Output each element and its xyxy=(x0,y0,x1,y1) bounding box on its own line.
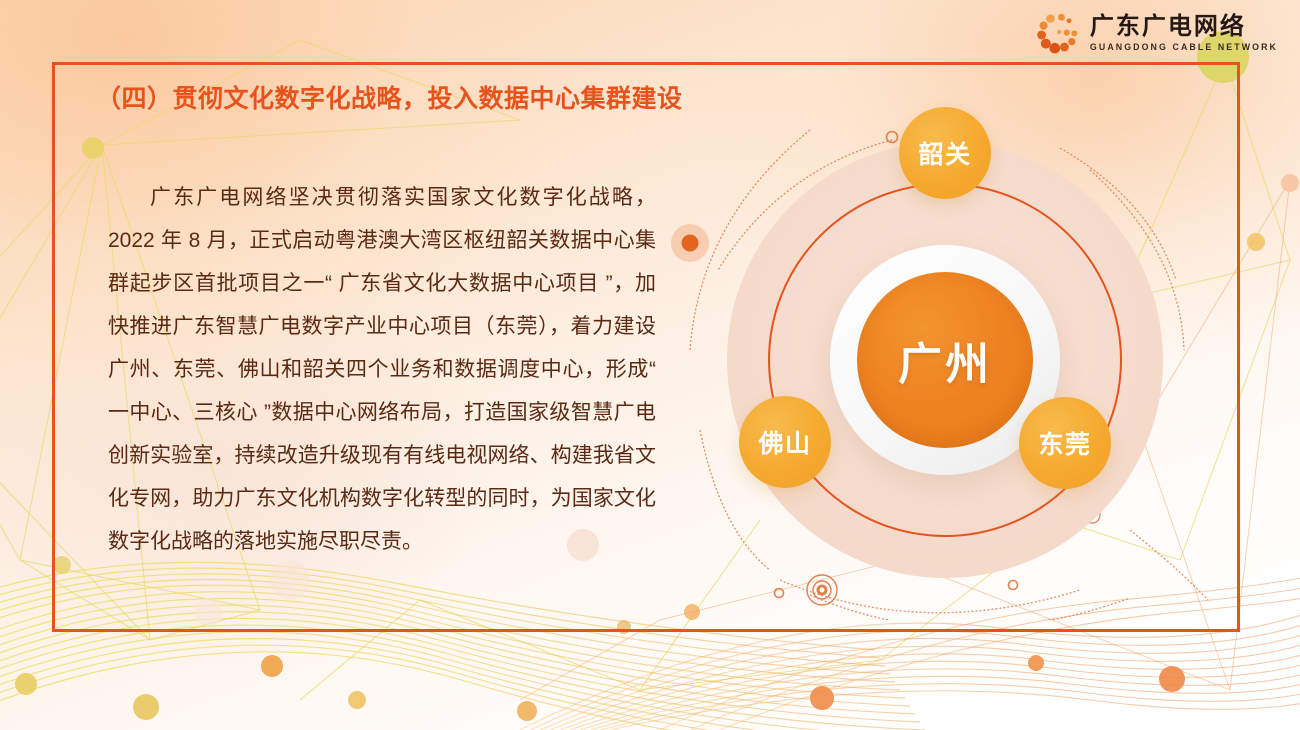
body-paragraph: 广东广电网络坚决贯彻落实国家文化数字化战略，2022 年 8 月，正式启动粤港澳… xyxy=(108,176,656,563)
node-label-foshan: 佛山 xyxy=(758,424,811,460)
logo-text-block: 广东广电网络 GUANGDONG CABLE NETWORK xyxy=(1090,15,1278,52)
logo-name-en: GUANGDONG CABLE NETWORK xyxy=(1090,43,1278,52)
hub-and-spoke-diagram: 广州 韶关 佛山 东莞 xyxy=(660,100,1220,620)
diagram-node-dongguan[interactable]: 东莞 xyxy=(1019,397,1111,489)
accent-dot-left xyxy=(682,235,699,252)
diagram-node-foshan[interactable]: 佛山 xyxy=(739,396,831,488)
logo-g-mark-icon xyxy=(1037,11,1081,55)
center-node-label: 广州 xyxy=(898,328,992,392)
target-marker-icon xyxy=(807,575,837,605)
ring-marker-bottom-right xyxy=(1009,581,1018,590)
node-label-dongguan: 东莞 xyxy=(1038,425,1091,461)
ring-marker-bottom-left xyxy=(775,589,784,598)
halo-dot-left xyxy=(671,224,709,262)
section-title: （四）贯彻文化数字化战略，投入数据中心集群建设 xyxy=(96,79,683,115)
brand-logo: 广东广电网络 GUANGDONG CABLE NETWORK xyxy=(1037,11,1278,55)
logo-name-cn: 广东广电网络 xyxy=(1090,15,1278,39)
node-label-shaoguan: 韶关 xyxy=(918,135,971,171)
slide-canvas: 广东广电网络 GUANGDONG CABLE NETWORK （四）贯彻文化数字… xyxy=(0,0,1300,730)
diagram-node-shaoguan[interactable]: 韶关 xyxy=(899,107,991,199)
ring-marker-top xyxy=(887,132,898,143)
diagram-center-node-guangzhou[interactable]: 广州 xyxy=(857,272,1033,448)
